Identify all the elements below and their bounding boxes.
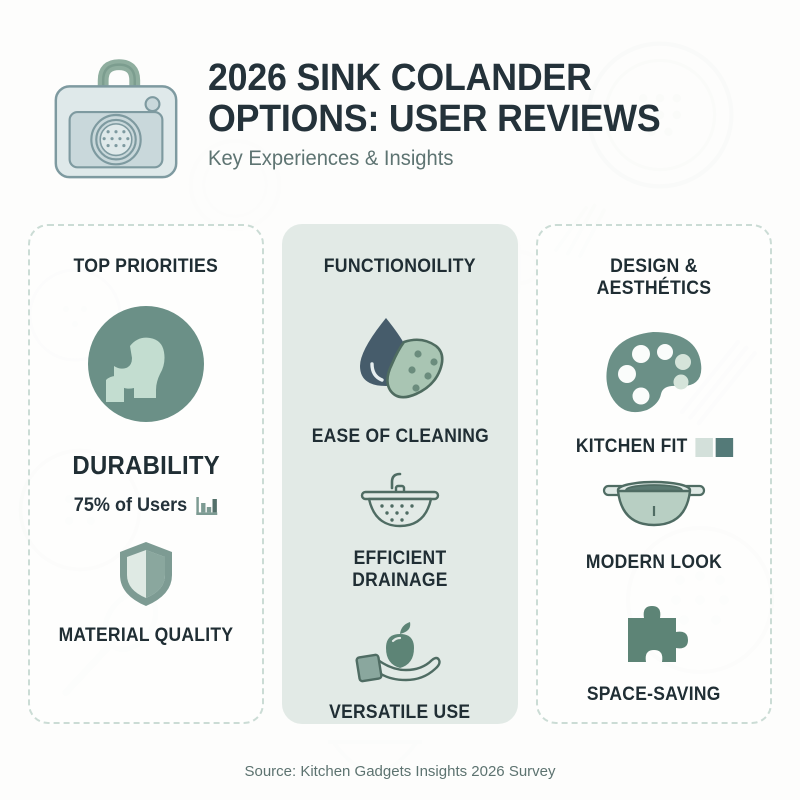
puzzle-piece-icon xyxy=(618,596,690,668)
material-quality-text: MATERIAL QUALITY xyxy=(59,625,234,647)
card-title-design-aesthetics: DESIGN & AESTHÉTICS xyxy=(557,256,750,300)
color-swatches-icon xyxy=(695,438,733,457)
infographic-page: 2026 SINK COLANDER OPTIONS: USER REVIEWS… xyxy=(0,0,800,800)
item-label-efficient-drainage: EFFICIENT DRAINAGE xyxy=(304,548,495,592)
card-title-top-priorities: TOP PRIORITIES xyxy=(74,256,219,278)
versatile-use-text: VERSATILE USE xyxy=(329,702,470,724)
swatch-light xyxy=(695,438,712,457)
kitchen-fit-text: KITCHEN FIT xyxy=(576,436,688,458)
water-drop-sponge-icon xyxy=(346,312,454,408)
space-saving-text: SPACE-SAVING xyxy=(587,684,721,706)
hand-holding-apple-icon xyxy=(352,614,448,686)
header: 2026 SINK COLANDER OPTIONS: USER REVIEWS… xyxy=(28,30,772,198)
item-label-material-quality: MATERIAL QUALITY xyxy=(59,625,234,647)
durability-text: DURABILITY xyxy=(72,450,220,481)
paint-palette-icon xyxy=(601,330,707,416)
card-functionality: FUNCTIONOILITY EASE OF CLEANING xyxy=(282,224,518,724)
item-label-durability: DURABILITY xyxy=(72,450,220,481)
card-title-functionality: FUNCTIONOILITY xyxy=(324,256,476,278)
ease-of-cleaning-text: EASE OF CLEANING xyxy=(311,426,488,448)
item-label-ease-of-cleaning: EASE OF CLEANING xyxy=(311,426,488,448)
columns-container: TOP PRIORITIES DURABILITY 75% of Users xyxy=(28,224,772,724)
page-title-line2: OPTIONS: USER REVIEWS xyxy=(208,99,661,140)
item-label-versatile-use: VERSATILE USE xyxy=(329,702,470,724)
item-label-kitchen-fit: KITCHEN FIT xyxy=(576,436,733,458)
page-subtitle: Key Experiences & Insights xyxy=(208,144,670,174)
strainer-bowl-icon xyxy=(602,478,706,534)
modern-look-text: MODERN LOOK xyxy=(586,552,722,574)
shield-icon xyxy=(116,539,176,609)
item-label-space-saving: SPACE-SAVING xyxy=(587,684,721,706)
card-top-priorities: TOP PRIORITIES DURABILITY 75% of Users xyxy=(28,224,264,724)
stat-users-percent-text: 75% of Users xyxy=(74,495,187,517)
stat-users-percent: 75% of Users xyxy=(74,495,219,517)
header-text: 2026 SINK COLANDER OPTIONS: USER REVIEWS… xyxy=(208,54,689,174)
efficient-drainage-text: EFFICIENT DRAINAGE xyxy=(304,548,495,592)
colander-icon xyxy=(358,470,442,532)
item-label-modern-look: MODERN LOOK xyxy=(586,552,722,574)
card-design-aesthetics: DESIGN & AESTHÉTICS KITCHEN FIT xyxy=(536,224,772,724)
page-title-line1: 2026 SINK COLANDER xyxy=(208,58,661,99)
swatch-dark xyxy=(715,438,732,457)
sink-icon xyxy=(42,44,190,184)
bar-chart-icon xyxy=(196,495,219,517)
source-footer: Source: Kitchen Gadgets Insights 2026 Su… xyxy=(28,763,772,800)
flexed-bicep-icon xyxy=(86,304,206,424)
